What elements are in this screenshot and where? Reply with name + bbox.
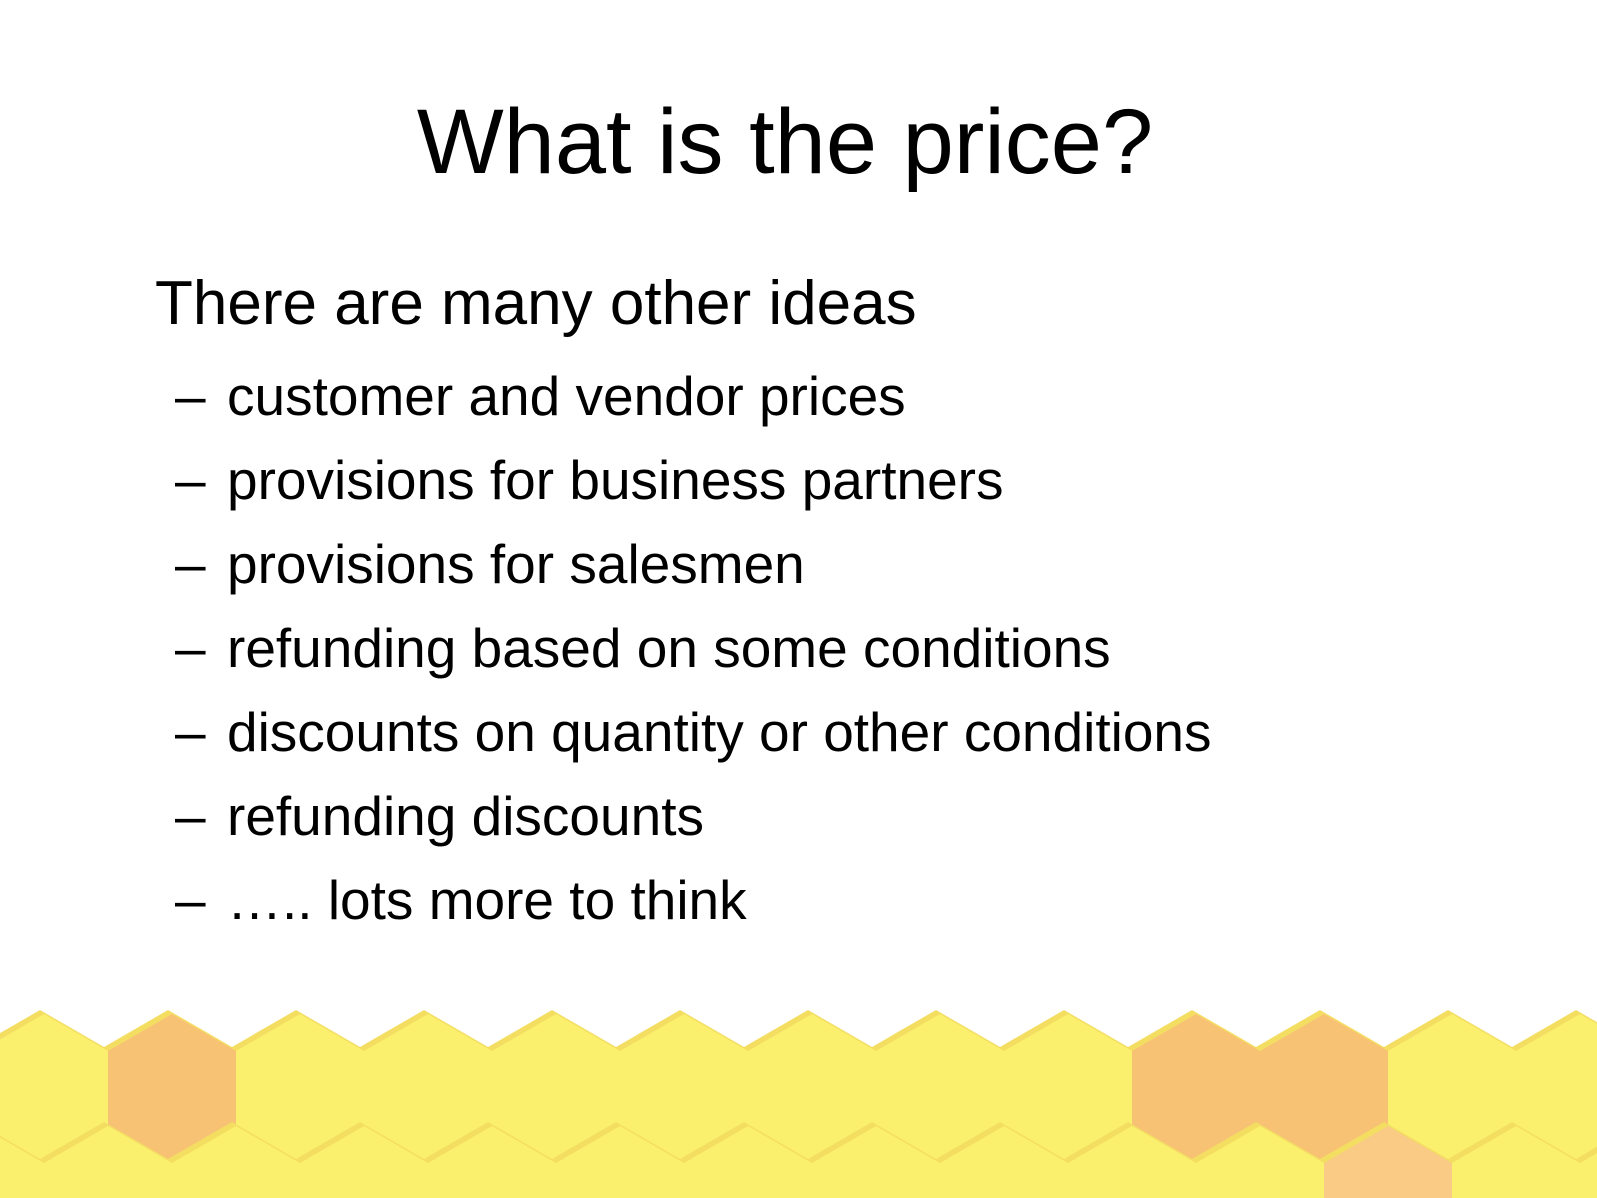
list-item-label: ….. lots more to think bbox=[227, 867, 747, 933]
dash-bullet-icon: – bbox=[175, 537, 206, 592]
list-item-label: refunding discounts bbox=[227, 783, 704, 849]
dash-bullet-icon: – bbox=[175, 789, 206, 844]
list-item: –refunding discounts bbox=[155, 774, 1475, 858]
list-item: –provisions for business partners bbox=[155, 438, 1475, 522]
list-item-label: customer and vendor prices bbox=[227, 363, 906, 429]
dash-bullet-icon: – bbox=[175, 705, 206, 760]
list-item: –discounts on quantity or other conditio… bbox=[155, 690, 1475, 774]
list-item: –provisions for salesmen bbox=[155, 522, 1475, 606]
page-title: What is the price? bbox=[0, 92, 1570, 192]
dash-bullet-icon: – bbox=[175, 873, 206, 928]
dash-bullet-icon: – bbox=[175, 369, 206, 424]
dash-bullet-icon: – bbox=[175, 621, 206, 676]
list-item: –refunding based on some conditions bbox=[155, 606, 1475, 690]
honeycomb-footer-decoration bbox=[0, 958, 1597, 1198]
bullet-level1-text: There are many other ideas bbox=[155, 268, 1475, 340]
list-item-label: refunding based on some conditions bbox=[227, 615, 1111, 681]
bullet-list: –customer and vendor prices–provisions f… bbox=[155, 354, 1475, 942]
list-item: –customer and vendor prices bbox=[155, 354, 1475, 438]
list-item-label: provisions for business partners bbox=[227, 447, 1003, 513]
list-item-label: discounts on quantity or other condition… bbox=[227, 699, 1212, 765]
slide-body: There are many other ideas –customer and… bbox=[155, 268, 1475, 942]
dash-bullet-icon: – bbox=[175, 453, 206, 508]
list-item-label: provisions for salesmen bbox=[227, 531, 805, 597]
list-item: –….. lots more to think bbox=[155, 858, 1475, 942]
slide-canvas: What is the price? There are many other … bbox=[0, 0, 1597, 1198]
